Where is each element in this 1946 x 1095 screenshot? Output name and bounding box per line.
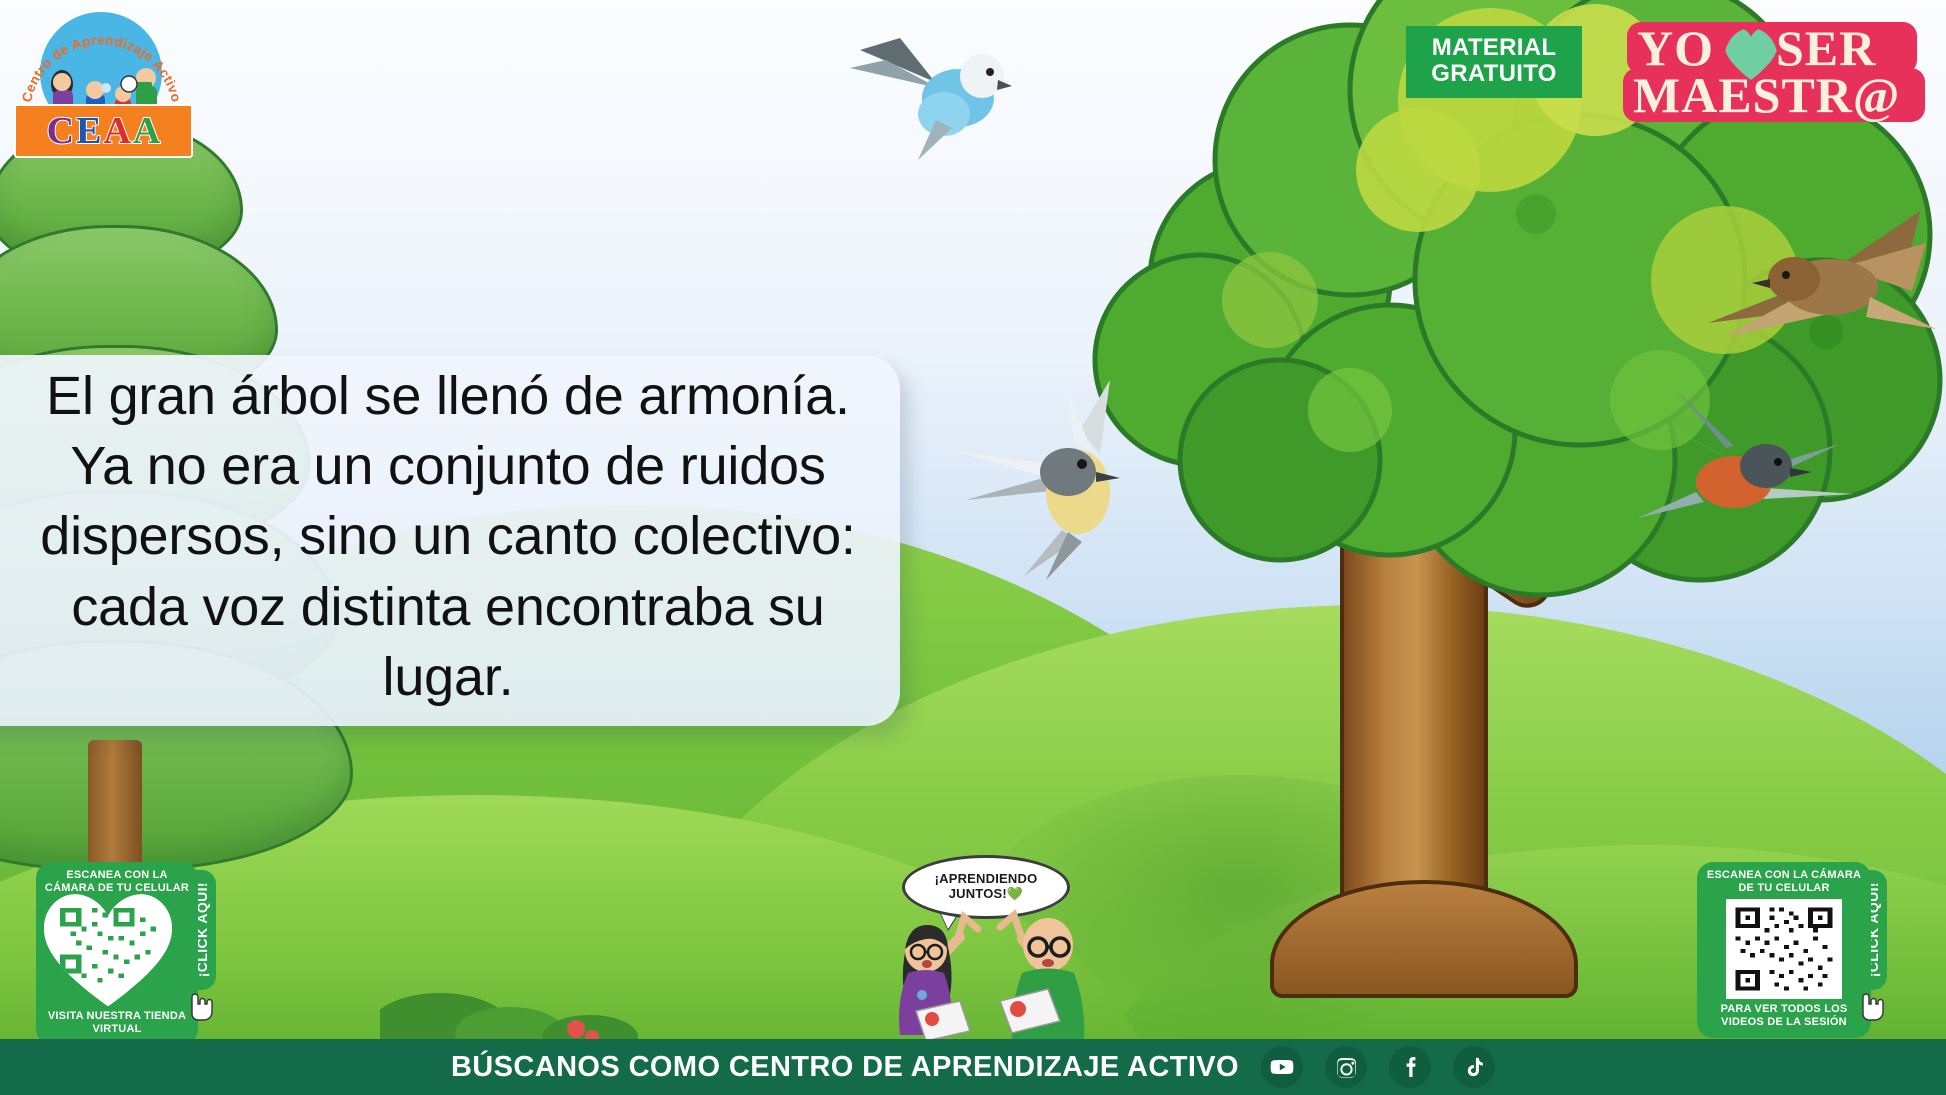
yosm-word-maestro: MAESTR@	[1633, 70, 1900, 120]
logo-letter-e: E	[76, 112, 101, 150]
tiktok-icon[interactable]	[1453, 1046, 1495, 1088]
footer-bar: BÚSCANOS COMO CENTRO DE APRENDIZAJE ACTI…	[0, 1039, 1946, 1095]
footer-text: BÚSCANOS COMO CENTRO DE APRENDIZAJE ACTI…	[451, 1051, 1239, 1084]
bubble-line-2: JUNTOS!	[949, 886, 1007, 901]
qr-right-code-square[interactable]	[1726, 899, 1842, 999]
logo-letter-a2: A	[133, 112, 160, 150]
blue-parakeet-bird	[840, 20, 1040, 170]
teal-robin-bird	[1630, 390, 1860, 570]
teacher-man	[978, 901, 1104, 1039]
logo-acronym-banner: C E A A	[14, 104, 193, 158]
qr-left-caption-bottom: VISITA NUESTRA TIENDA VIRTUAL	[44, 1010, 190, 1035]
bubble-line-1: ¡APRENDIENDO	[935, 872, 1038, 887]
facebook-icon[interactable]	[1389, 1046, 1431, 1088]
yo-ser-maestro-logo[interactable]: YO SER MAESTR@	[1623, 14, 1933, 126]
logo-letter-c: C	[47, 112, 74, 150]
teachers-illustration: ¡APRENDIENDO JUNTOS!💚	[880, 855, 1110, 1040]
qr-right-badge[interactable]: ESCANEA CON LA CÁMARA DE TU CELULAR	[1697, 862, 1871, 1038]
material-gratuito-line1: MATERIAL	[1412, 35, 1576, 61]
pointing-hand-icon	[184, 990, 214, 1024]
qr-left-code-heart[interactable]	[44, 894, 172, 1006]
material-gratuito-line2: GRATUITO	[1412, 61, 1576, 87]
qr-left-badge[interactable]: ESCANEA CON LA CÁMARA DE TU CELULAR	[36, 862, 198, 1045]
slide-canvas: El gran árbol se llenó de armonía. Ya no…	[0, 0, 1946, 1095]
ceaa-logo[interactable]: Centro de Aprendizaje Activo C E A A	[14, 4, 189, 164]
bubble-heart-icon: 💚	[1007, 886, 1023, 901]
bushes	[380, 967, 800, 1047]
pointing-hand-icon-right	[1855, 990, 1885, 1024]
brown-sparrow-bird	[1690, 205, 1940, 370]
material-gratuito-badge: MATERIAL GRATUITO	[1406, 26, 1582, 98]
qr-left-group[interactable]: ¡CLICK AQUÍ! ESCANEA CON LA CÁMARA DE TU…	[36, 862, 226, 1045]
logo-letter-a1: A	[103, 112, 130, 150]
white-yellow-bird	[950, 380, 1160, 580]
yosm-word-ser: SER	[1776, 23, 1876, 73]
yosm-word-yo: YO	[1637, 23, 1714, 73]
story-text-panel: El gran árbol se llenó de armonía. Ya no…	[0, 355, 900, 726]
youtube-icon[interactable]	[1261, 1046, 1303, 1088]
qr-right-group[interactable]: ¡CLICK AQUÍ! ESCANEA CON LA CÁMARA DE TU…	[1697, 862, 1917, 1038]
qr-right-caption-bottom: PARA VER TODOS LOS VIDEOS DE LA SESIÓN	[1705, 1003, 1863, 1028]
story-text: El gran árbol se llenó de armonía. Ya no…	[0, 355, 900, 726]
qr-left-caption-top: ESCANEA CON LA CÁMARA DE TU CELULAR	[44, 869, 190, 894]
instagram-icon[interactable]	[1325, 1046, 1367, 1088]
qr-right-caption-top: ESCANEA CON LA CÁMARA DE TU CELULAR	[1705, 869, 1863, 894]
